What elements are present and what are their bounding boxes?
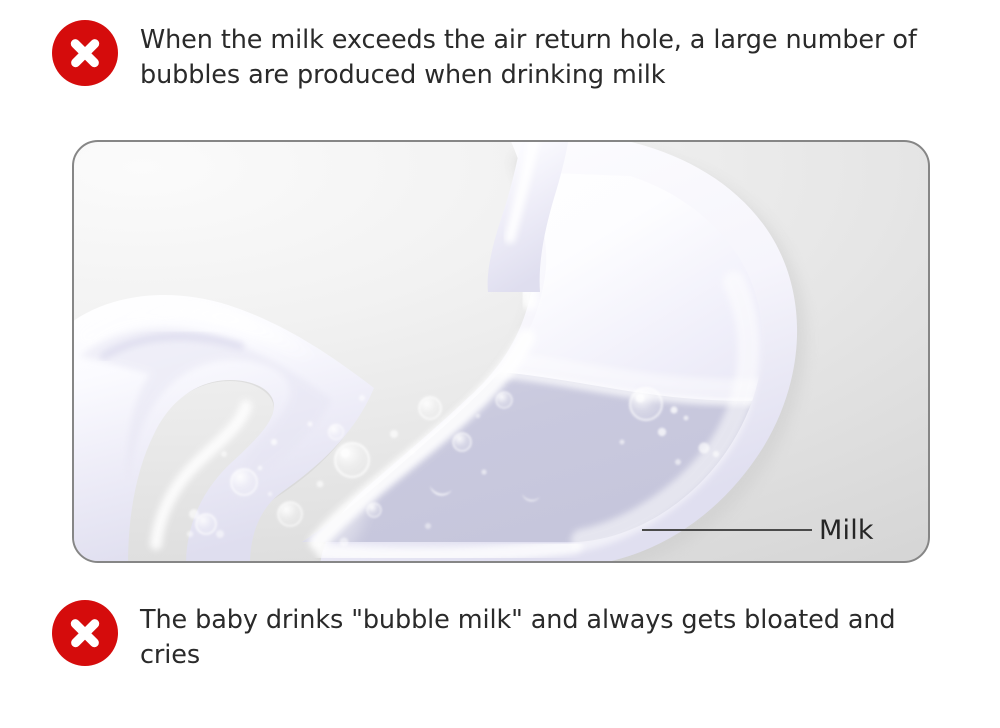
stomach-illustration-panel: Milk Air [72, 140, 930, 563]
x-circle-icon [52, 600, 118, 666]
callout-top: When the milk exceeds the air return hol… [52, 18, 952, 93]
stomach-diagram-svg [74, 142, 930, 563]
x-circle-icon [52, 20, 118, 86]
callout-bottom-text: The baby drinks "bubble milk" and always… [140, 598, 940, 673]
callout-top-text: When the milk exceeds the air return hol… [140, 18, 940, 93]
milk-label: Milk [819, 515, 874, 546]
milk-leader-line [642, 529, 812, 531]
infographic-page: When the milk exceeds the air return hol… [0, 0, 1000, 728]
callout-bottom: The baby drinks "bubble milk" and always… [52, 598, 952, 673]
